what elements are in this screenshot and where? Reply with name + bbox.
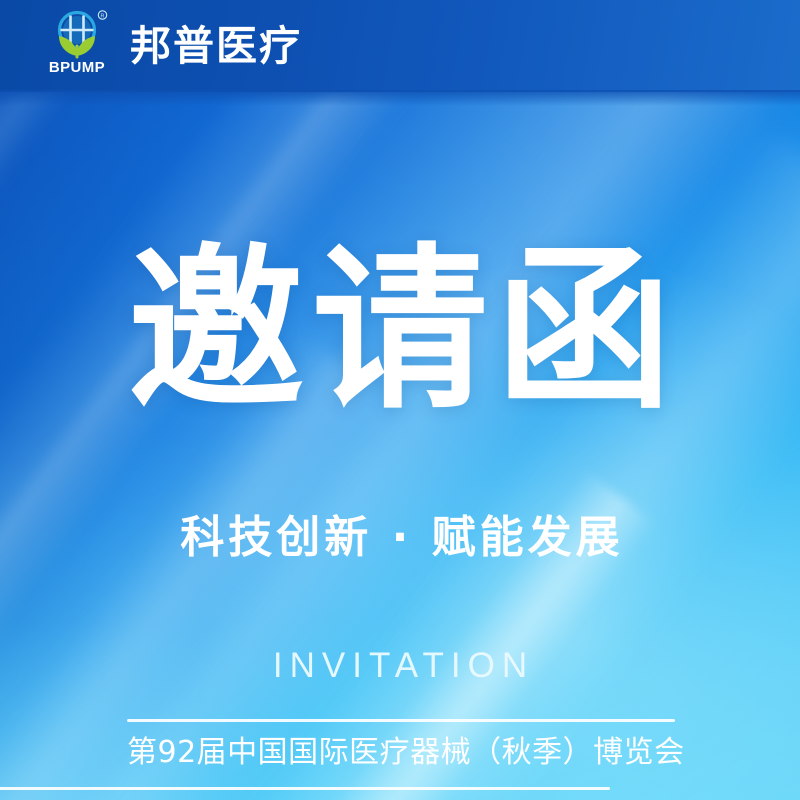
event-name: 第92届中国国际医疗器械（秋季）博览会 <box>127 734 675 772</box>
bpump-circle-leaf-icon: R <box>46 10 108 64</box>
footer-block: 第92届中国国际医疗器械（秋季）博览会 <box>127 719 675 772</box>
brand-name: 邦普医疗 <box>130 26 302 67</box>
poster-subtitle: 科技创新 · 赋能发展 <box>0 512 800 565</box>
poster-content: 邀请函 科技创新 · 赋能发展 INVITATION 第92届中国国际医疗器械（… <box>0 0 800 800</box>
svg-text:R: R <box>101 14 105 20</box>
brand-header: R BPUMP 邦普医疗 <box>0 0 800 92</box>
divider-top <box>127 719 675 722</box>
divider-bottom <box>0 787 610 790</box>
bpump-logo: R BPUMP <box>46 10 108 82</box>
invitation-label: INVITATION <box>0 645 800 687</box>
bpump-wordmark: BPUMP <box>46 60 108 76</box>
page-title: 邀请函 <box>0 232 800 429</box>
invitation-poster: R BPUMP 邦普医疗 邀请函 科技创新 · 赋能发展 INVITATION … <box>0 0 800 800</box>
